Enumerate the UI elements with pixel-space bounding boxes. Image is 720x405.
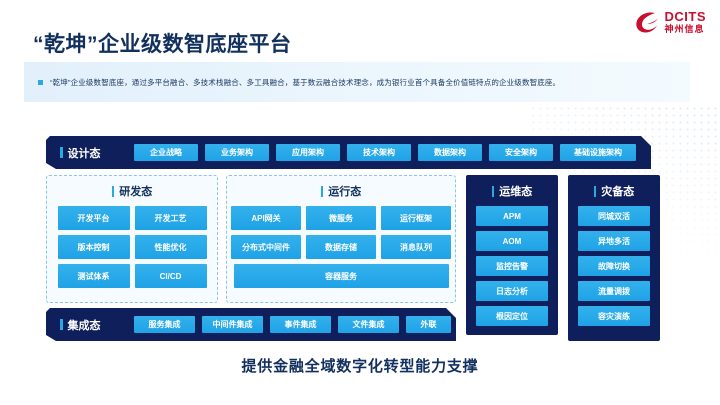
chip-design-4[interactable]: 数据架构	[418, 144, 482, 161]
column-dr: 灾备态 同城双活 异地多活 故障切换 流量调拨 容灾演练	[568, 175, 660, 341]
group-dev-label: 研发态	[112, 183, 153, 199]
column-ops-label: 运维态	[492, 183, 533, 199]
chip-run-0[interactable]: API网关	[231, 206, 301, 230]
chip-design-2[interactable]: 应用架构	[276, 144, 340, 161]
chip-dr-3[interactable]: 流量调拨	[578, 281, 650, 301]
column-dr-label: 灾备态	[594, 183, 635, 199]
logo-text-en: DCITS	[665, 10, 707, 23]
chip-ops-2[interactable]: 监控告警	[476, 256, 548, 276]
chip-dev-1[interactable]: 开发工艺	[135, 206, 207, 230]
group-run-label-text: 运行态	[328, 183, 361, 199]
logo-text-cn: 神州信息	[665, 25, 707, 34]
chip-design-5[interactable]: 安全架构	[489, 144, 553, 161]
group-run: 运行态 API网关 微服务 运行框架 分布式中间件 数据存储 消息队列 容器服务	[226, 175, 456, 303]
accent-bar-icon	[594, 186, 597, 197]
layer-design: 设计态 企业战略 业务架构 应用架构 技术架构 数据架构 安全架构 基础设施架构	[46, 136, 651, 169]
chip-ops-4[interactable]: 根因定位	[476, 306, 548, 326]
accent-bar-icon	[321, 186, 324, 197]
chip-run-2[interactable]: 运行框架	[381, 206, 451, 230]
chip-dev-2[interactable]: 版本控制	[58, 235, 130, 259]
chip-integration-4[interactable]: 外联	[406, 316, 451, 333]
group-dev: 研发态 开发平台 开发工艺 版本控制 性能优化 测试体系 CI/CD	[46, 175, 218, 303]
footer-caption: 提供金融全域数字化转型能力支撑	[0, 355, 720, 376]
page-title: “乾坤”企业级数智底座平台	[33, 28, 292, 58]
layer-integration-label-text: 集成态	[68, 317, 101, 333]
chip-dr-4[interactable]: 容灾演练	[578, 306, 650, 326]
chip-design-6[interactable]: 基础设施架构	[560, 144, 636, 161]
chip-run-3[interactable]: 分布式中间件	[231, 235, 301, 259]
swoosh-icon	[634, 10, 660, 34]
bullet-icon	[38, 80, 43, 85]
column-ops: 运维态 APM AOM 监控告警 日志分析 根因定位	[466, 175, 558, 335]
brand-logo: DCITS 神州信息	[634, 10, 707, 34]
group-dev-label-text: 研发态	[119, 183, 152, 199]
accent-bar-icon	[112, 186, 115, 197]
chip-design-0[interactable]: 企业战略	[134, 144, 198, 161]
group-run-label: 运行态	[321, 183, 362, 199]
column-dr-label-text: 灾备态	[601, 183, 634, 199]
chip-run-5[interactable]: 消息队列	[381, 235, 451, 259]
chip-ops-3[interactable]: 日志分析	[476, 281, 548, 301]
chip-dev-4[interactable]: 测试体系	[58, 264, 130, 288]
chip-dev-3[interactable]: 性能优化	[135, 235, 207, 259]
architecture-diagram: 设计态 企业战略 业务架构 应用架构 技术架构 数据架构 安全架构 基础设施架构…	[46, 136, 680, 341]
chip-ops-1[interactable]: AOM	[476, 231, 548, 251]
chip-dr-0[interactable]: 同城双活	[578, 206, 650, 226]
chip-integration-1[interactable]: 中间件集成	[202, 316, 263, 333]
layer-design-label-text: 设计态	[68, 145, 101, 161]
accent-bar-icon	[492, 186, 495, 197]
chip-integration-3[interactable]: 文件集成	[338, 316, 399, 333]
chip-dr-2[interactable]: 故障切换	[578, 256, 650, 276]
column-ops-label-text: 运维态	[499, 183, 532, 199]
accent-bar-icon	[60, 147, 63, 158]
chip-run-1[interactable]: 微服务	[306, 206, 376, 230]
chip-design-3[interactable]: 技术架构	[347, 144, 411, 161]
subtitle-band: “乾坤”企业级数智底座，通过多平台融合、多技术栈融合、多工具融合，基于数云融合技…	[24, 62, 690, 102]
subtitle-text: “乾坤”企业级数智底座，通过多平台融合、多技术栈融合、多工具融合，基于数云融合技…	[50, 77, 560, 88]
chip-dr-1[interactable]: 异地多活	[578, 231, 650, 251]
chip-ops-0[interactable]: APM	[476, 206, 548, 226]
accent-bar-icon	[60, 319, 63, 330]
chip-integration-2[interactable]: 事件集成	[270, 316, 331, 333]
layer-design-label: 设计态	[60, 145, 134, 161]
chip-dev-0[interactable]: 开发平台	[58, 206, 130, 230]
layer-integration-label: 集成态	[60, 317, 134, 333]
chip-run-4[interactable]: 数据存储	[306, 235, 376, 259]
layer-integration: 集成态 服务集成 中间件集成 事件集成 文件集成 外联	[46, 308, 456, 341]
chip-run-container-service[interactable]: 容器服务	[234, 264, 449, 288]
chip-integration-0[interactable]: 服务集成	[134, 316, 195, 333]
chip-design-1[interactable]: 业务架构	[205, 144, 269, 161]
chip-dev-5[interactable]: CI/CD	[135, 264, 207, 288]
